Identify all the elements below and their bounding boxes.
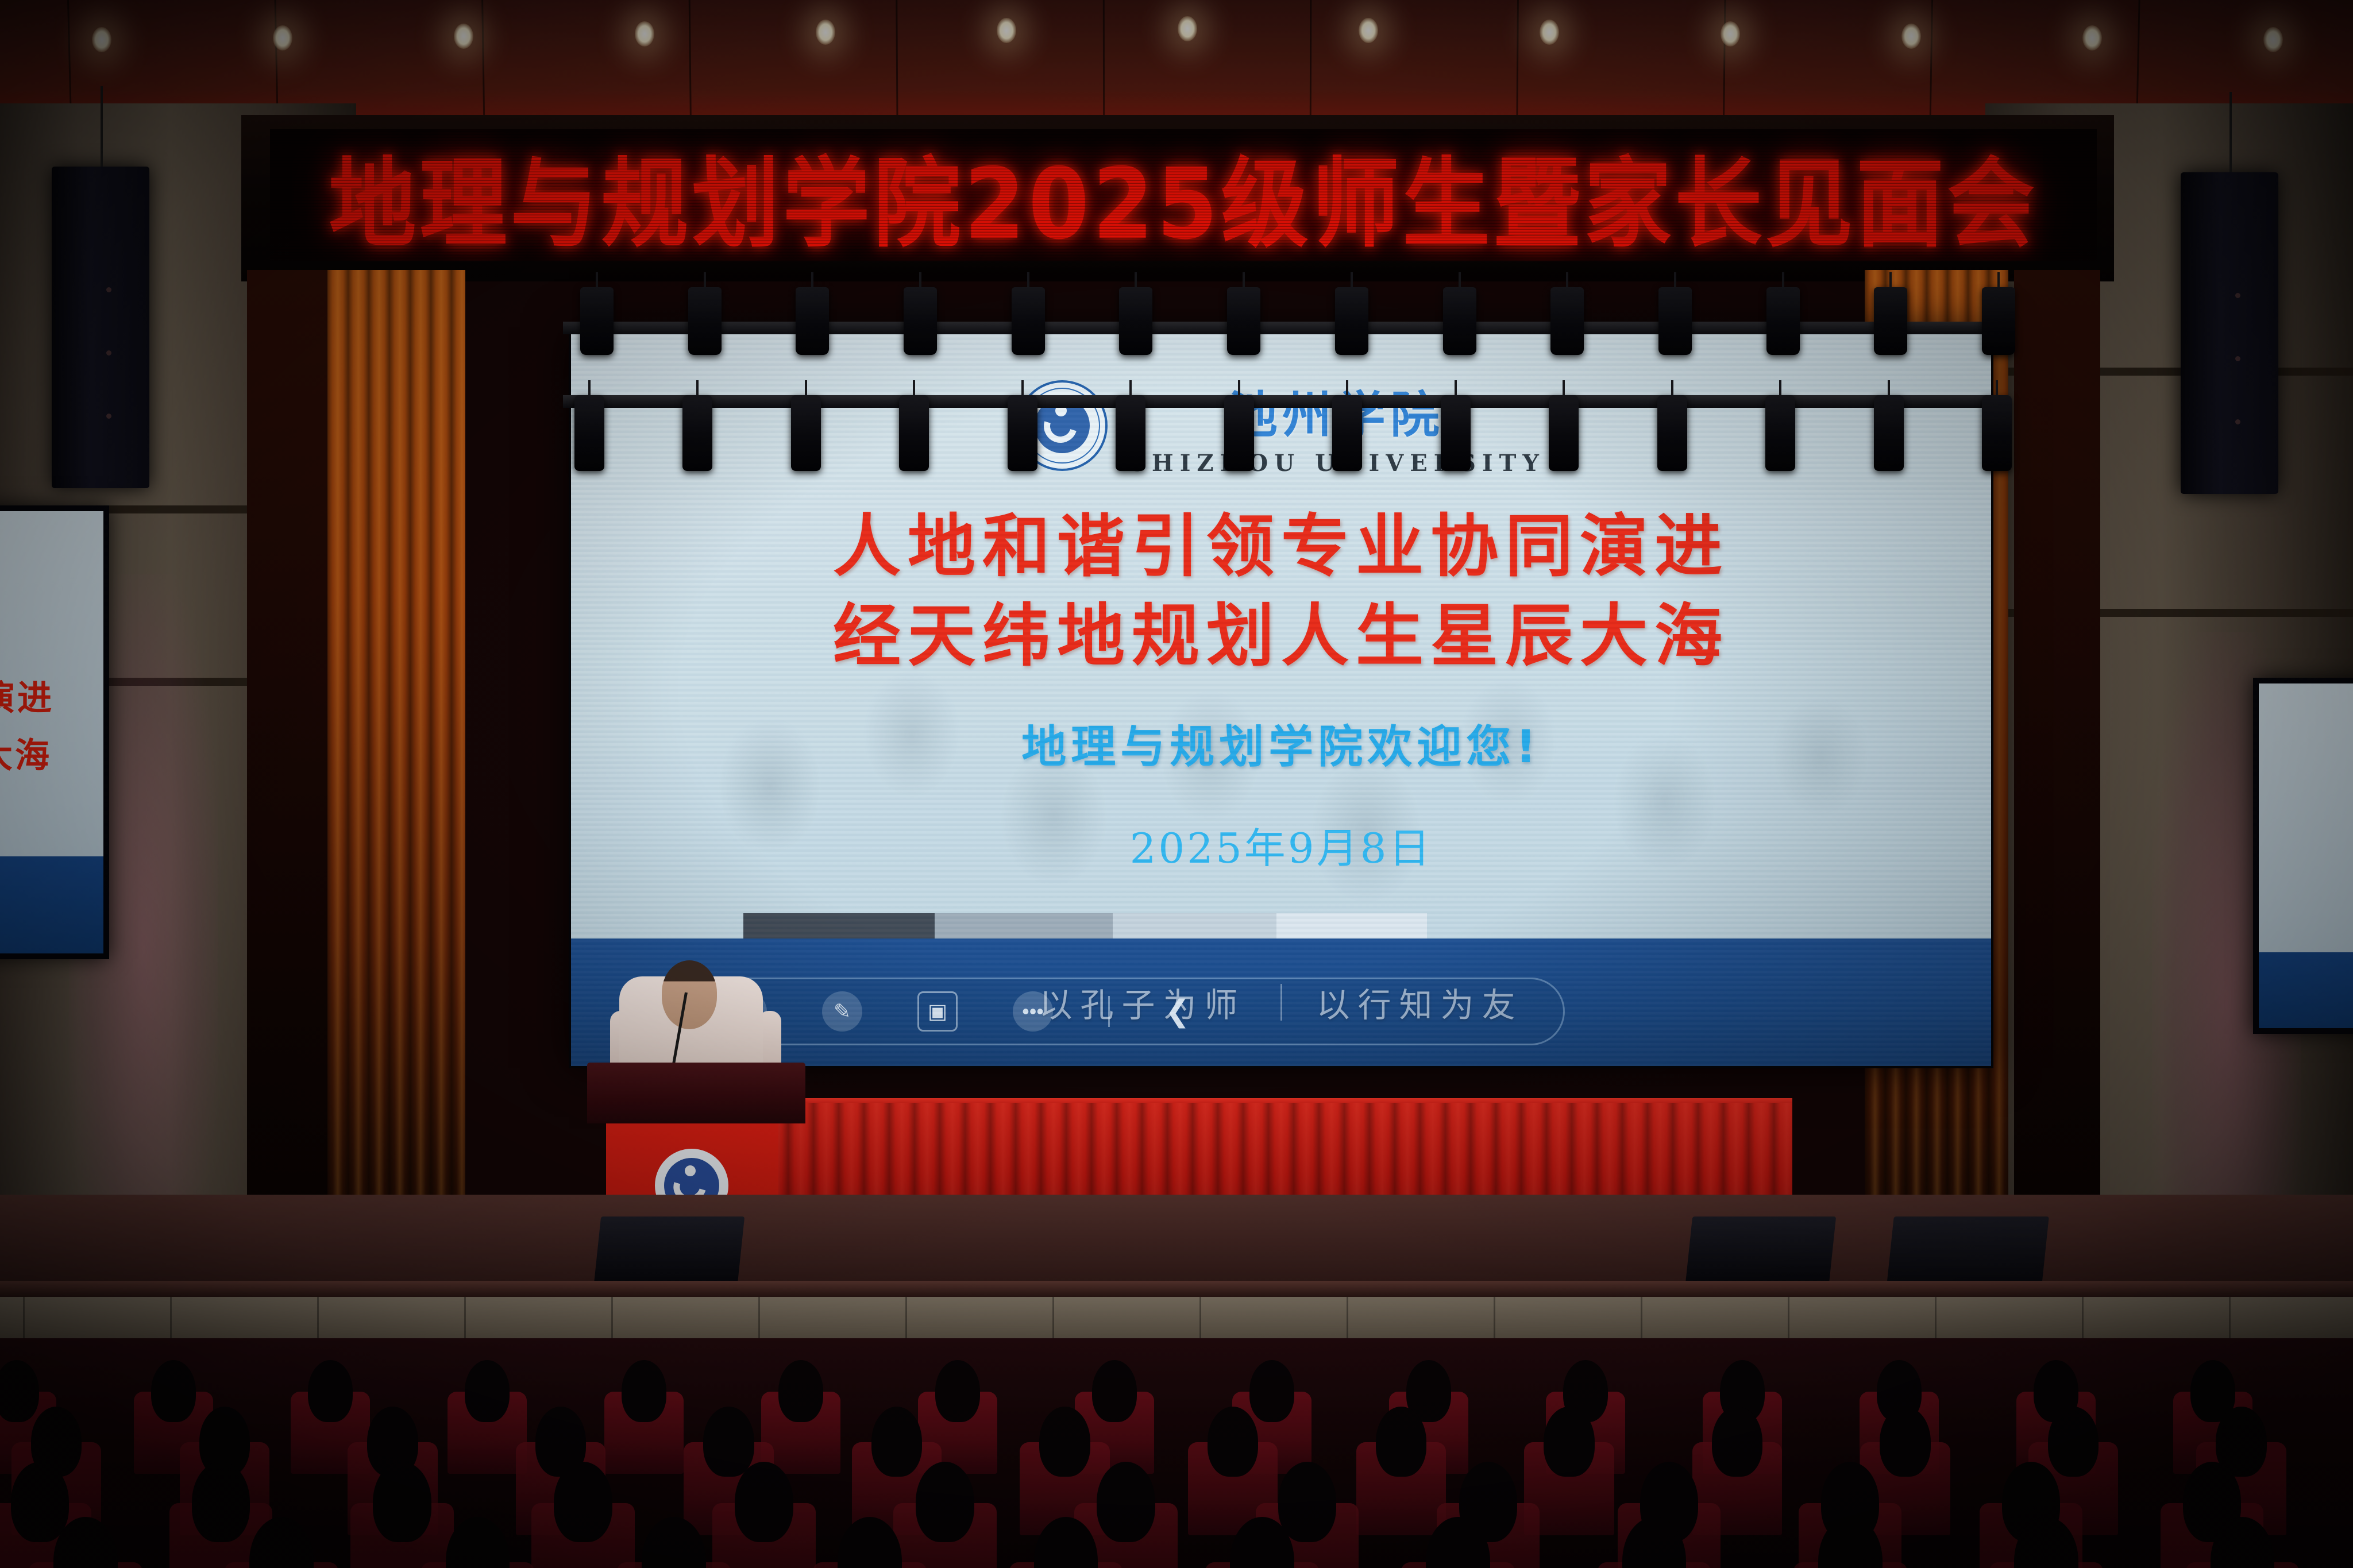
side-monitor-right-screen — [2259, 683, 2353, 1028]
truss-lamp-lower — [682, 395, 712, 471]
truss-lamp-lower — [1874, 395, 1904, 471]
side-monitor-left: 演进 大海 — [0, 505, 109, 959]
stage-monitor-wedge-3 — [1886, 1216, 2049, 1291]
audience-head — [1249, 1360, 1294, 1422]
truss-lamp-upper — [1982, 287, 2015, 355]
side-monitor-right-band — [2259, 952, 2353, 1028]
audience-head — [373, 1462, 431, 1542]
audience-head — [2048, 1407, 2099, 1477]
truss-lamp-upper — [796, 287, 829, 355]
truss-lamp-upper — [1227, 287, 1260, 355]
ceiling-downlight — [2082, 25, 2102, 51]
truss-lamp-upper — [1119, 287, 1152, 355]
audience-head — [151, 1360, 196, 1422]
audience-head — [308, 1360, 353, 1422]
curtain-masking-right — [2014, 270, 2100, 1212]
audience-head — [1208, 1407, 1258, 1477]
audience-head — [935, 1360, 980, 1422]
audience-head — [465, 1360, 510, 1422]
chevron-left-icon[interactable]: ❮ — [1165, 994, 1190, 1029]
audience-head — [192, 1462, 250, 1542]
truss-lamp-lower — [1224, 395, 1254, 471]
slide-slogan-line-2: 经天纬地规划人生星辰大海 — [833, 592, 1729, 681]
video-camera-icon[interactable]: ▣ — [917, 991, 958, 1032]
truss-lamp-lower — [1549, 395, 1579, 471]
truss-lamp-upper — [580, 287, 614, 355]
ellipsis-icon[interactable]: ••• — [1013, 991, 1053, 1032]
audience-head — [622, 1360, 666, 1422]
ceiling-downlight — [1359, 18, 1378, 43]
side-monitor-left-text-2: 大海 — [0, 728, 52, 778]
truss-lamp-upper — [904, 287, 937, 355]
truss-lamp-upper — [1766, 287, 1800, 355]
audience-head — [916, 1462, 974, 1542]
ceiling-downlight — [1901, 24, 1921, 49]
auditorium-photo: 地理与规划学院2025级师生暨家长见面会 池州学院 CHIZHOU UNIVER… — [0, 0, 2353, 1568]
truss-lamp-lower — [899, 395, 929, 471]
ceiling-downlight — [454, 24, 473, 49]
ceiling-downlight — [273, 25, 292, 51]
truss-lamp-upper — [1012, 287, 1045, 355]
ceiling-downlight — [816, 20, 835, 45]
audience-head — [1278, 1462, 1336, 1542]
curtain-masking-left — [247, 270, 333, 1212]
truss-lamp-lower — [1008, 395, 1037, 471]
truss-lamp-upper — [1335, 287, 1368, 355]
truss-lamp-upper — [1874, 287, 1907, 355]
truss-lamp-upper — [688, 287, 722, 355]
audience-head — [1039, 1407, 1090, 1477]
audience-head — [0, 1360, 39, 1422]
audience-head — [778, 1360, 823, 1422]
truss-lamp-upper — [1550, 287, 1584, 355]
wall-trim-right-lower — [1951, 609, 2353, 617]
truss-lamp-lower — [1657, 395, 1687, 471]
truss-lamp-lower — [1765, 395, 1795, 471]
side-monitor-right — [2253, 678, 2353, 1034]
stage-curtain-left — [327, 270, 465, 1200]
audience-head — [1712, 1407, 1762, 1477]
pen-icon[interactable]: ✎ — [822, 991, 862, 1032]
line-array-speaker-right — [2181, 172, 2278, 494]
slide-progress-strip — [743, 913, 1427, 939]
audience-head — [11, 1462, 69, 1542]
audience-head — [1376, 1407, 1426, 1477]
ceiling-downlight — [2263, 27, 2283, 52]
toolbar-divider — [1108, 996, 1110, 1027]
truss-lamp-upper — [1443, 287, 1476, 355]
stage-lip — [0, 1281, 2353, 1298]
led-banner: 地理与规划学院2025级师生暨家长见面会 — [270, 129, 2097, 261]
slide-slogan-line-1: 人地和谐引领专业协同演进 — [833, 502, 1729, 592]
slide-date: 2025年9月8日 — [1130, 814, 1433, 875]
audience-head — [1097, 1462, 1155, 1542]
ceiling-downlight — [1178, 16, 1197, 41]
truss-lamp-lower — [1441, 395, 1471, 471]
speaker-head — [662, 960, 717, 1029]
ceiling-downlight — [92, 27, 111, 52]
led-banner-text: 地理与规划学院2025级师生暨家长见面会 — [329, 129, 2038, 261]
stage-monitor-wedge-2 — [1685, 1216, 1836, 1284]
audience-head — [703, 1407, 754, 1477]
truss-lamp-lower — [574, 395, 604, 471]
presentation-toolbar[interactable]: ◉ ✎ ▣ ••• ❮ — [692, 978, 1565, 1045]
side-monitor-left-screen: 演进 大海 — [0, 511, 103, 953]
podium-top — [587, 1063, 805, 1123]
line-array-speaker-left — [52, 167, 149, 488]
ceiling-downlight — [1540, 20, 1559, 45]
truss-lamp-lower — [1982, 395, 2012, 471]
audience-head — [735, 1462, 793, 1542]
ceiling-downlight — [997, 18, 1016, 43]
audience-area — [0, 1338, 2353, 1568]
audience-head — [446, 1517, 510, 1568]
wall-trim-right-upper — [1951, 368, 2353, 376]
truss-lamp-lower — [1116, 395, 1145, 471]
audience-head — [1880, 1407, 1930, 1477]
slide-welcome-line: 地理与规划学院欢迎您! — [1021, 711, 1541, 775]
audience-head — [1544, 1407, 1594, 1477]
stage-monitor-wedge-1 — [594, 1216, 745, 1284]
truss-lamp-lower — [791, 395, 821, 471]
side-monitor-left-band — [0, 856, 103, 953]
side-monitor-left-text-1: 演进 — [0, 670, 54, 720]
truss-lamp-lower — [1332, 395, 1362, 471]
truss-lamp-upper — [1658, 287, 1692, 355]
audience-head — [871, 1407, 922, 1477]
audience-head — [554, 1462, 612, 1542]
audience-head — [1092, 1360, 1137, 1422]
